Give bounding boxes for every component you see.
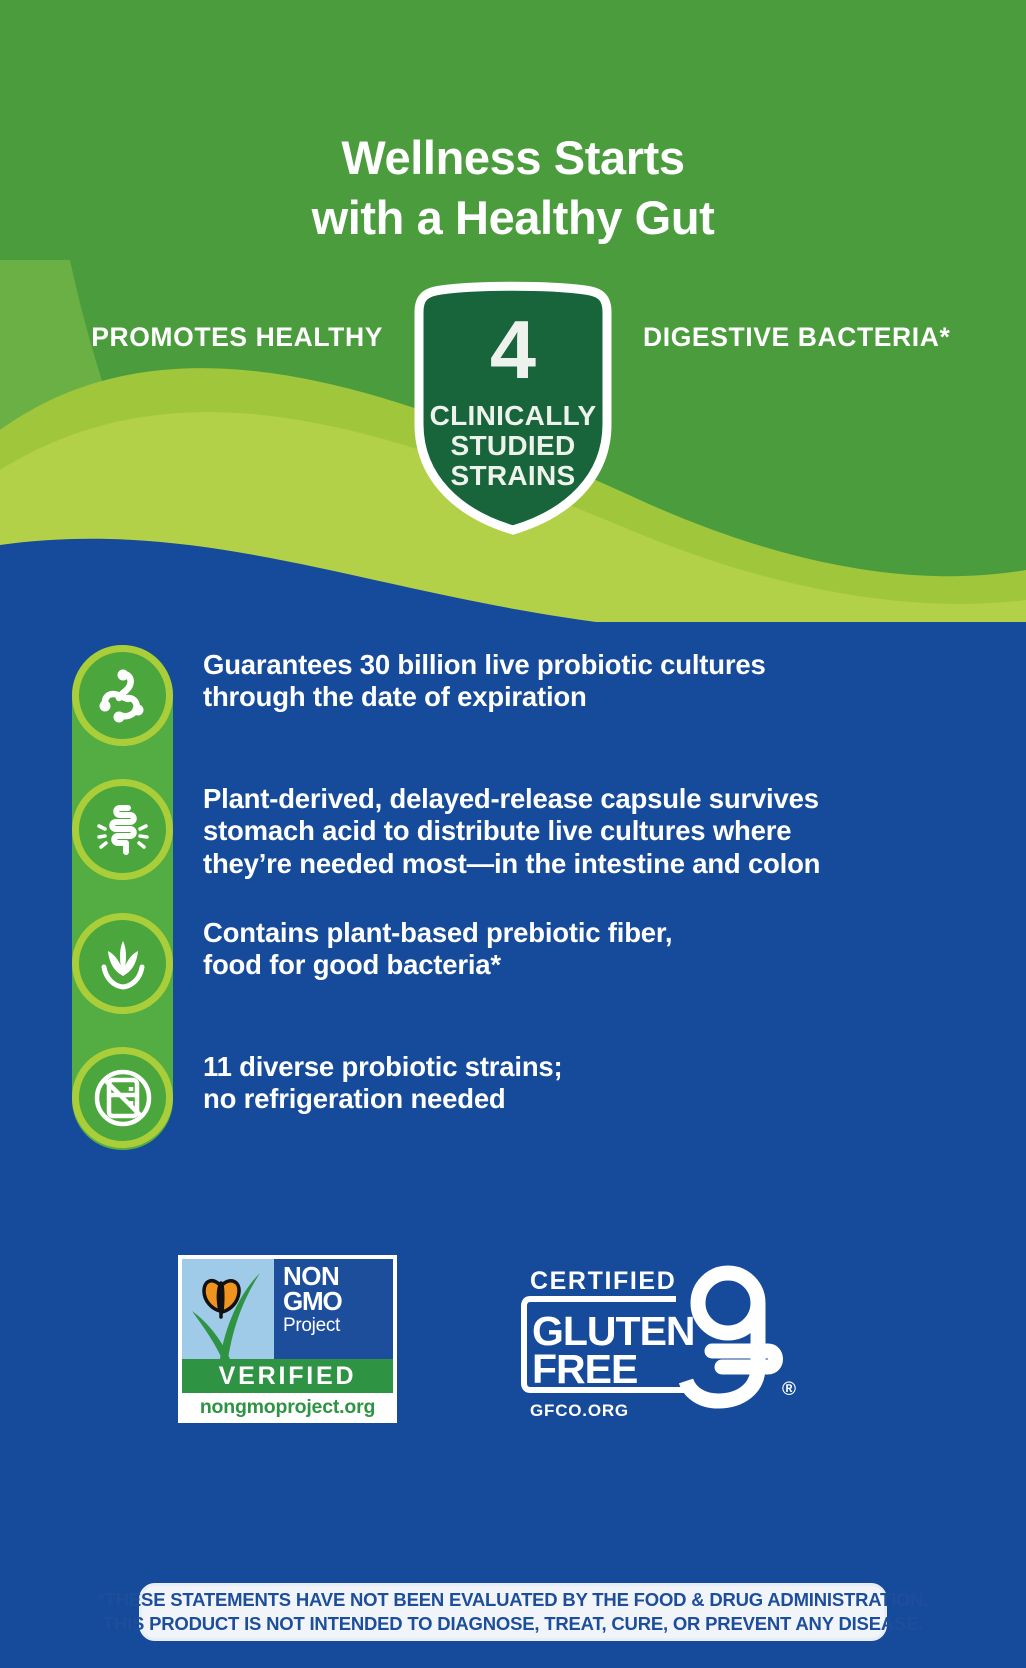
list-item: Contains plant-based prebiotic fiber, fo… [72, 913, 972, 1014]
svg-text:®: ® [782, 1379, 796, 1400]
disclaimer-line-1: *THESE STATEMENTS HAVE NOT BEEN EVALUATE… [98, 1588, 929, 1612]
nongmo-line-3: Project [283, 1316, 393, 1337]
list-item: Plant-derived, delayed-release capsule s… [72, 779, 972, 880]
probiotic-cells-icon [72, 645, 173, 746]
bullet-1-line-2: through the date of expiration [203, 681, 766, 713]
nongmo-verified-bar: VERIFIED [182, 1359, 393, 1393]
shield-line-3: STRAINS [407, 461, 619, 491]
bullet-1-line-1: Guarantees 30 billion live probiotic cul… [203, 649, 766, 681]
headline-line-2: with a Healthy Gut [0, 188, 1026, 248]
page-title: Wellness Starts with a Healthy Gut [0, 128, 1026, 248]
plant-leaves-icon [72, 913, 173, 1014]
bullet-3-line-1: Contains plant-based prebiotic fiber, [203, 917, 672, 949]
disclaimer-line-2: THIS PRODUCT IS NOT INTENDED TO DIAGNOSE… [103, 1612, 923, 1636]
bullet-2-line-3: they’re needed most—in the intestine and… [203, 848, 820, 880]
non-gmo-project-verified-badge: NON GMO Project VERIFIED nongmoproject.o… [178, 1255, 397, 1423]
clinically-studied-strains-shield-badge: 4 CLINICALLY STUDIED STRAINS [407, 278, 619, 536]
butterfly-grass-icon [182, 1259, 274, 1359]
bullet-3-line-2: food for good bacteria* [203, 949, 672, 981]
svg-text:FREE: FREE [532, 1346, 637, 1392]
nongmo-url: nongmoproject.org [182, 1393, 393, 1421]
shield-line-2: STUDIED [407, 431, 619, 461]
no-refrigeration-icon [72, 1047, 173, 1148]
list-item: 11 diverse probiotic strains; no refrige… [72, 1047, 972, 1148]
feature-bullet-list: Guarantees 30 billion live probiotic cul… [72, 645, 972, 1150]
bullet-4-line-1: 11 diverse probiotic strains; [203, 1051, 562, 1083]
bullet-2-line-2: stomach acid to distribute live cultures… [203, 815, 820, 847]
fda-disclaimer-box: *THESE STATEMENTS HAVE NOT BEEN EVALUATE… [139, 1583, 887, 1641]
intestine-icon [72, 779, 173, 880]
nongmo-line-2: GMO [283, 1289, 393, 1314]
headline-line-1: Wellness Starts [0, 128, 1026, 188]
gfco-url: GFCO.ORG [530, 1401, 629, 1421]
promo-text-left: PROMOTES HEALTHY [85, 322, 407, 353]
shield-line-1: CLINICALLY [407, 401, 619, 431]
promo-text-right: DIGESTIVE BACTERIA* [619, 322, 941, 353]
shield-caption: CLINICALLY STUDIED STRAINS [407, 401, 619, 491]
certified-gluten-free-badge: ® CERTIFIED GLUTEN FREE GFCO.ORG [516, 1255, 801, 1430]
list-item-text: 11 diverse probiotic strains; no refrige… [173, 1047, 562, 1116]
product-package-panel: Wellness Starts with a Healthy Gut PROMO… [0, 0, 1026, 1668]
bullet-2-line-1: Plant-derived, delayed-release capsule s… [203, 783, 820, 815]
list-item-text: Plant-derived, delayed-release capsule s… [173, 779, 820, 880]
list-item-text: Contains plant-based prebiotic fiber, fo… [173, 913, 672, 982]
shield-number: 4 [407, 308, 619, 391]
bullet-4-line-2: no refrigeration needed [203, 1083, 562, 1115]
svg-text:CERTIFIED: CERTIFIED [530, 1267, 676, 1295]
list-item-text: Guarantees 30 billion live probiotic cul… [173, 645, 766, 714]
list-item: Guarantees 30 billion live probiotic cul… [72, 645, 972, 746]
non-gmo-wordmark: NON GMO Project [274, 1259, 393, 1359]
